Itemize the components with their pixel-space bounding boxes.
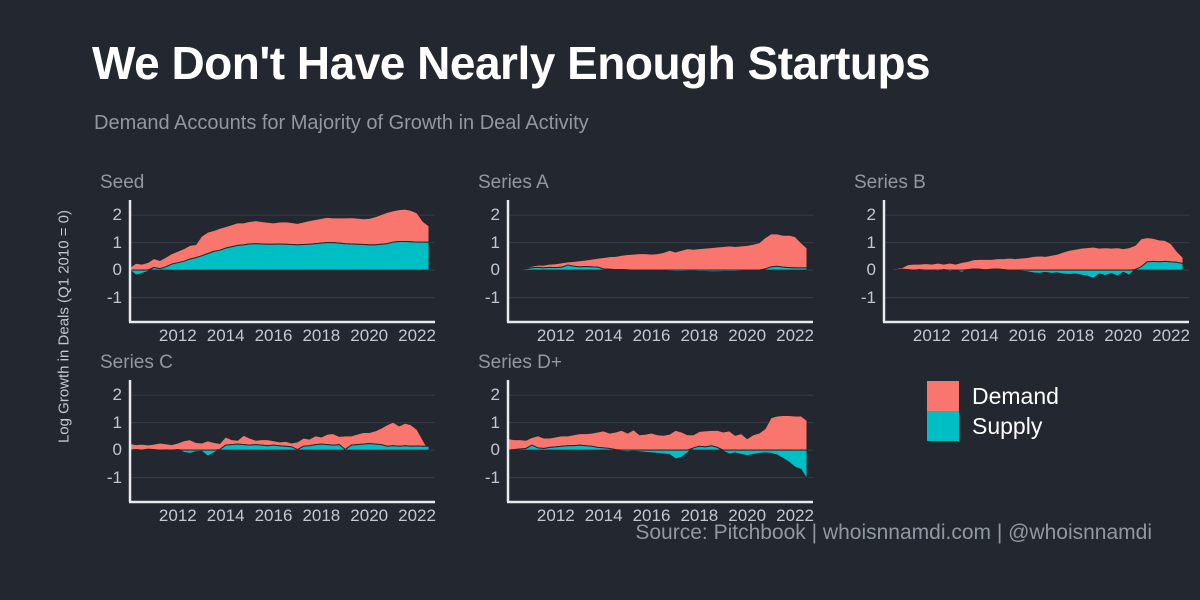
plot-area: 210-1201220142016201820202022 bbox=[100, 200, 445, 344]
plot-svg bbox=[478, 200, 823, 324]
y-tick-label: 0 bbox=[100, 440, 122, 460]
y-tick-label: -1 bbox=[854, 288, 876, 308]
plot-svg bbox=[100, 380, 445, 504]
x-tick-label: 2022 bbox=[387, 326, 447, 346]
legend-item-demand[interactable]: Demand bbox=[927, 381, 1059, 411]
panel-title: Series B bbox=[854, 172, 926, 194]
panel-title: Series C bbox=[100, 352, 173, 374]
panel-title: Series A bbox=[478, 172, 549, 194]
y-tick-label: 0 bbox=[100, 260, 122, 280]
area-demand bbox=[508, 234, 807, 271]
panel-series-a: Series A210-1201220142016201820202022 bbox=[478, 172, 823, 342]
x-tick-label: 2022 bbox=[765, 326, 825, 346]
area-demand bbox=[508, 415, 807, 450]
y-tick-label: -1 bbox=[478, 288, 500, 308]
legend-label-supply: Supply bbox=[972, 411, 1042, 441]
y-tick-label: 1 bbox=[478, 233, 500, 253]
y-tick-label: 0 bbox=[854, 260, 876, 280]
panel-series-b: Series B210-1201220142016201820202022 bbox=[854, 172, 1199, 342]
y-tick-label: 2 bbox=[478, 205, 500, 225]
area-supply bbox=[508, 445, 807, 479]
source-caption: Source: Pitchbook | whoisnnamdi.com | @w… bbox=[635, 521, 1152, 545]
x-tick-label: 2022 bbox=[387, 506, 447, 526]
panel-series-d: Series D+210-1201220142016201820202022 bbox=[478, 352, 823, 522]
y-axis-label: Log Growth in Deals (Q1 2010 = 0) bbox=[56, 177, 73, 477]
chart-canvas: We Don't Have Nearly Enough Startups Dem… bbox=[0, 0, 1200, 600]
y-tick-label: 1 bbox=[100, 233, 122, 253]
plot-svg bbox=[854, 200, 1199, 324]
panel-seed: Seed210-1201220142016201820202022 bbox=[100, 172, 445, 342]
y-tick-label: 1 bbox=[478, 413, 500, 433]
plot-svg bbox=[478, 380, 823, 504]
plot-area: 210-1201220142016201820202022 bbox=[478, 200, 823, 344]
page-subtitle: Demand Accounts for Majority of Growth i… bbox=[94, 112, 589, 135]
y-tick-label: 1 bbox=[854, 233, 876, 253]
y-tick-label: -1 bbox=[100, 468, 122, 488]
y-tick-label: 0 bbox=[478, 260, 500, 280]
y-tick-label: 1 bbox=[100, 413, 122, 433]
panel-title: Seed bbox=[100, 172, 144, 194]
y-tick-label: -1 bbox=[100, 288, 122, 308]
plot-area: 210-1201220142016201820202022 bbox=[854, 200, 1199, 344]
x-tick-label: 2022 bbox=[1141, 326, 1200, 346]
legend-swatch-demand bbox=[927, 381, 959, 411]
plot-area: 210-1201220142016201820202022 bbox=[100, 380, 445, 524]
chart-legend: Demand Supply bbox=[927, 381, 1059, 441]
page-title: We Don't Have Nearly Enough Startups bbox=[92, 36, 930, 90]
legend-label-demand: Demand bbox=[972, 381, 1059, 411]
y-tick-label: 2 bbox=[854, 205, 876, 225]
plot-svg bbox=[100, 200, 445, 324]
panel-series-c: Series C210-1201220142016201820202022 bbox=[100, 352, 445, 522]
legend-item-supply[interactable]: Supply bbox=[927, 411, 1059, 441]
y-tick-label: 2 bbox=[100, 385, 122, 405]
y-tick-label: 0 bbox=[478, 440, 500, 460]
y-tick-label: 2 bbox=[100, 205, 122, 225]
plot-area: 210-1201220142016201820202022 bbox=[478, 380, 823, 524]
legend-swatch-supply bbox=[927, 411, 959, 441]
panel-title: Series D+ bbox=[478, 352, 562, 374]
y-tick-label: -1 bbox=[478, 468, 500, 488]
y-tick-label: 2 bbox=[478, 385, 500, 405]
